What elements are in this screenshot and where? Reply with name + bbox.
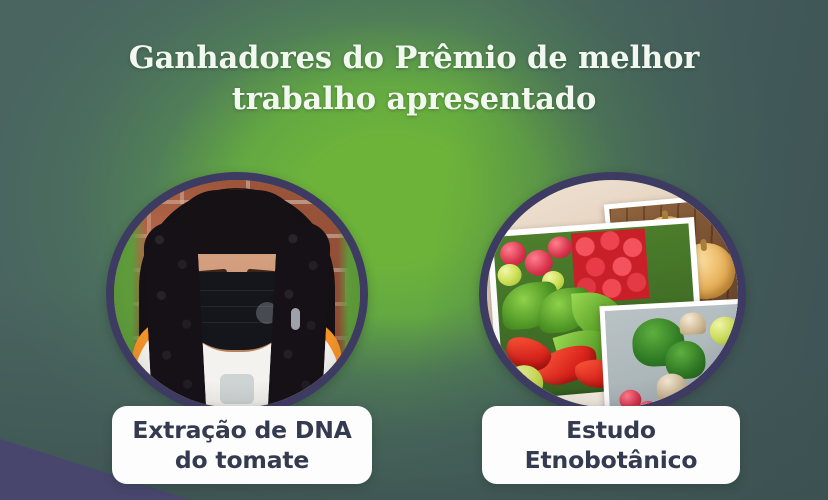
winner-2-caption-box: Estudo Etnobotânico xyxy=(482,406,740,484)
radish-3 xyxy=(547,236,572,260)
winner-1-photo xyxy=(114,180,360,408)
winner-2-photo-circle xyxy=(479,172,746,416)
shirt-logo xyxy=(220,374,254,404)
winner-1-photo-circle xyxy=(106,172,368,416)
radish-1 xyxy=(499,241,527,267)
onion-stem-2 xyxy=(700,239,707,251)
green-apple-2 xyxy=(709,316,738,346)
mushroom-1 xyxy=(679,312,706,335)
mixed-produce-scene xyxy=(605,303,738,408)
winner-2-photo xyxy=(487,180,738,408)
collage-card-mixed-produce xyxy=(599,298,738,408)
winner-2-caption-text: Estudo Etnobotânico xyxy=(525,415,698,475)
yellow-fruit-1 xyxy=(497,263,522,287)
winner-1-caption-box: Extração de DNA do tomate xyxy=(112,406,372,484)
hair-curls-left xyxy=(142,221,207,408)
poster-canvas: Ganhadores do Prêmio de melhor trabalho … xyxy=(0,0,828,500)
mask-fold-1 xyxy=(186,290,288,291)
mushroom-2 xyxy=(656,373,687,401)
winner-1-caption-text: Extração de DNA do tomate xyxy=(132,415,351,475)
student-figure xyxy=(114,180,360,408)
page-title: Ganhadores do Prêmio de melhor trabalho … xyxy=(0,38,828,120)
earring xyxy=(291,308,300,330)
